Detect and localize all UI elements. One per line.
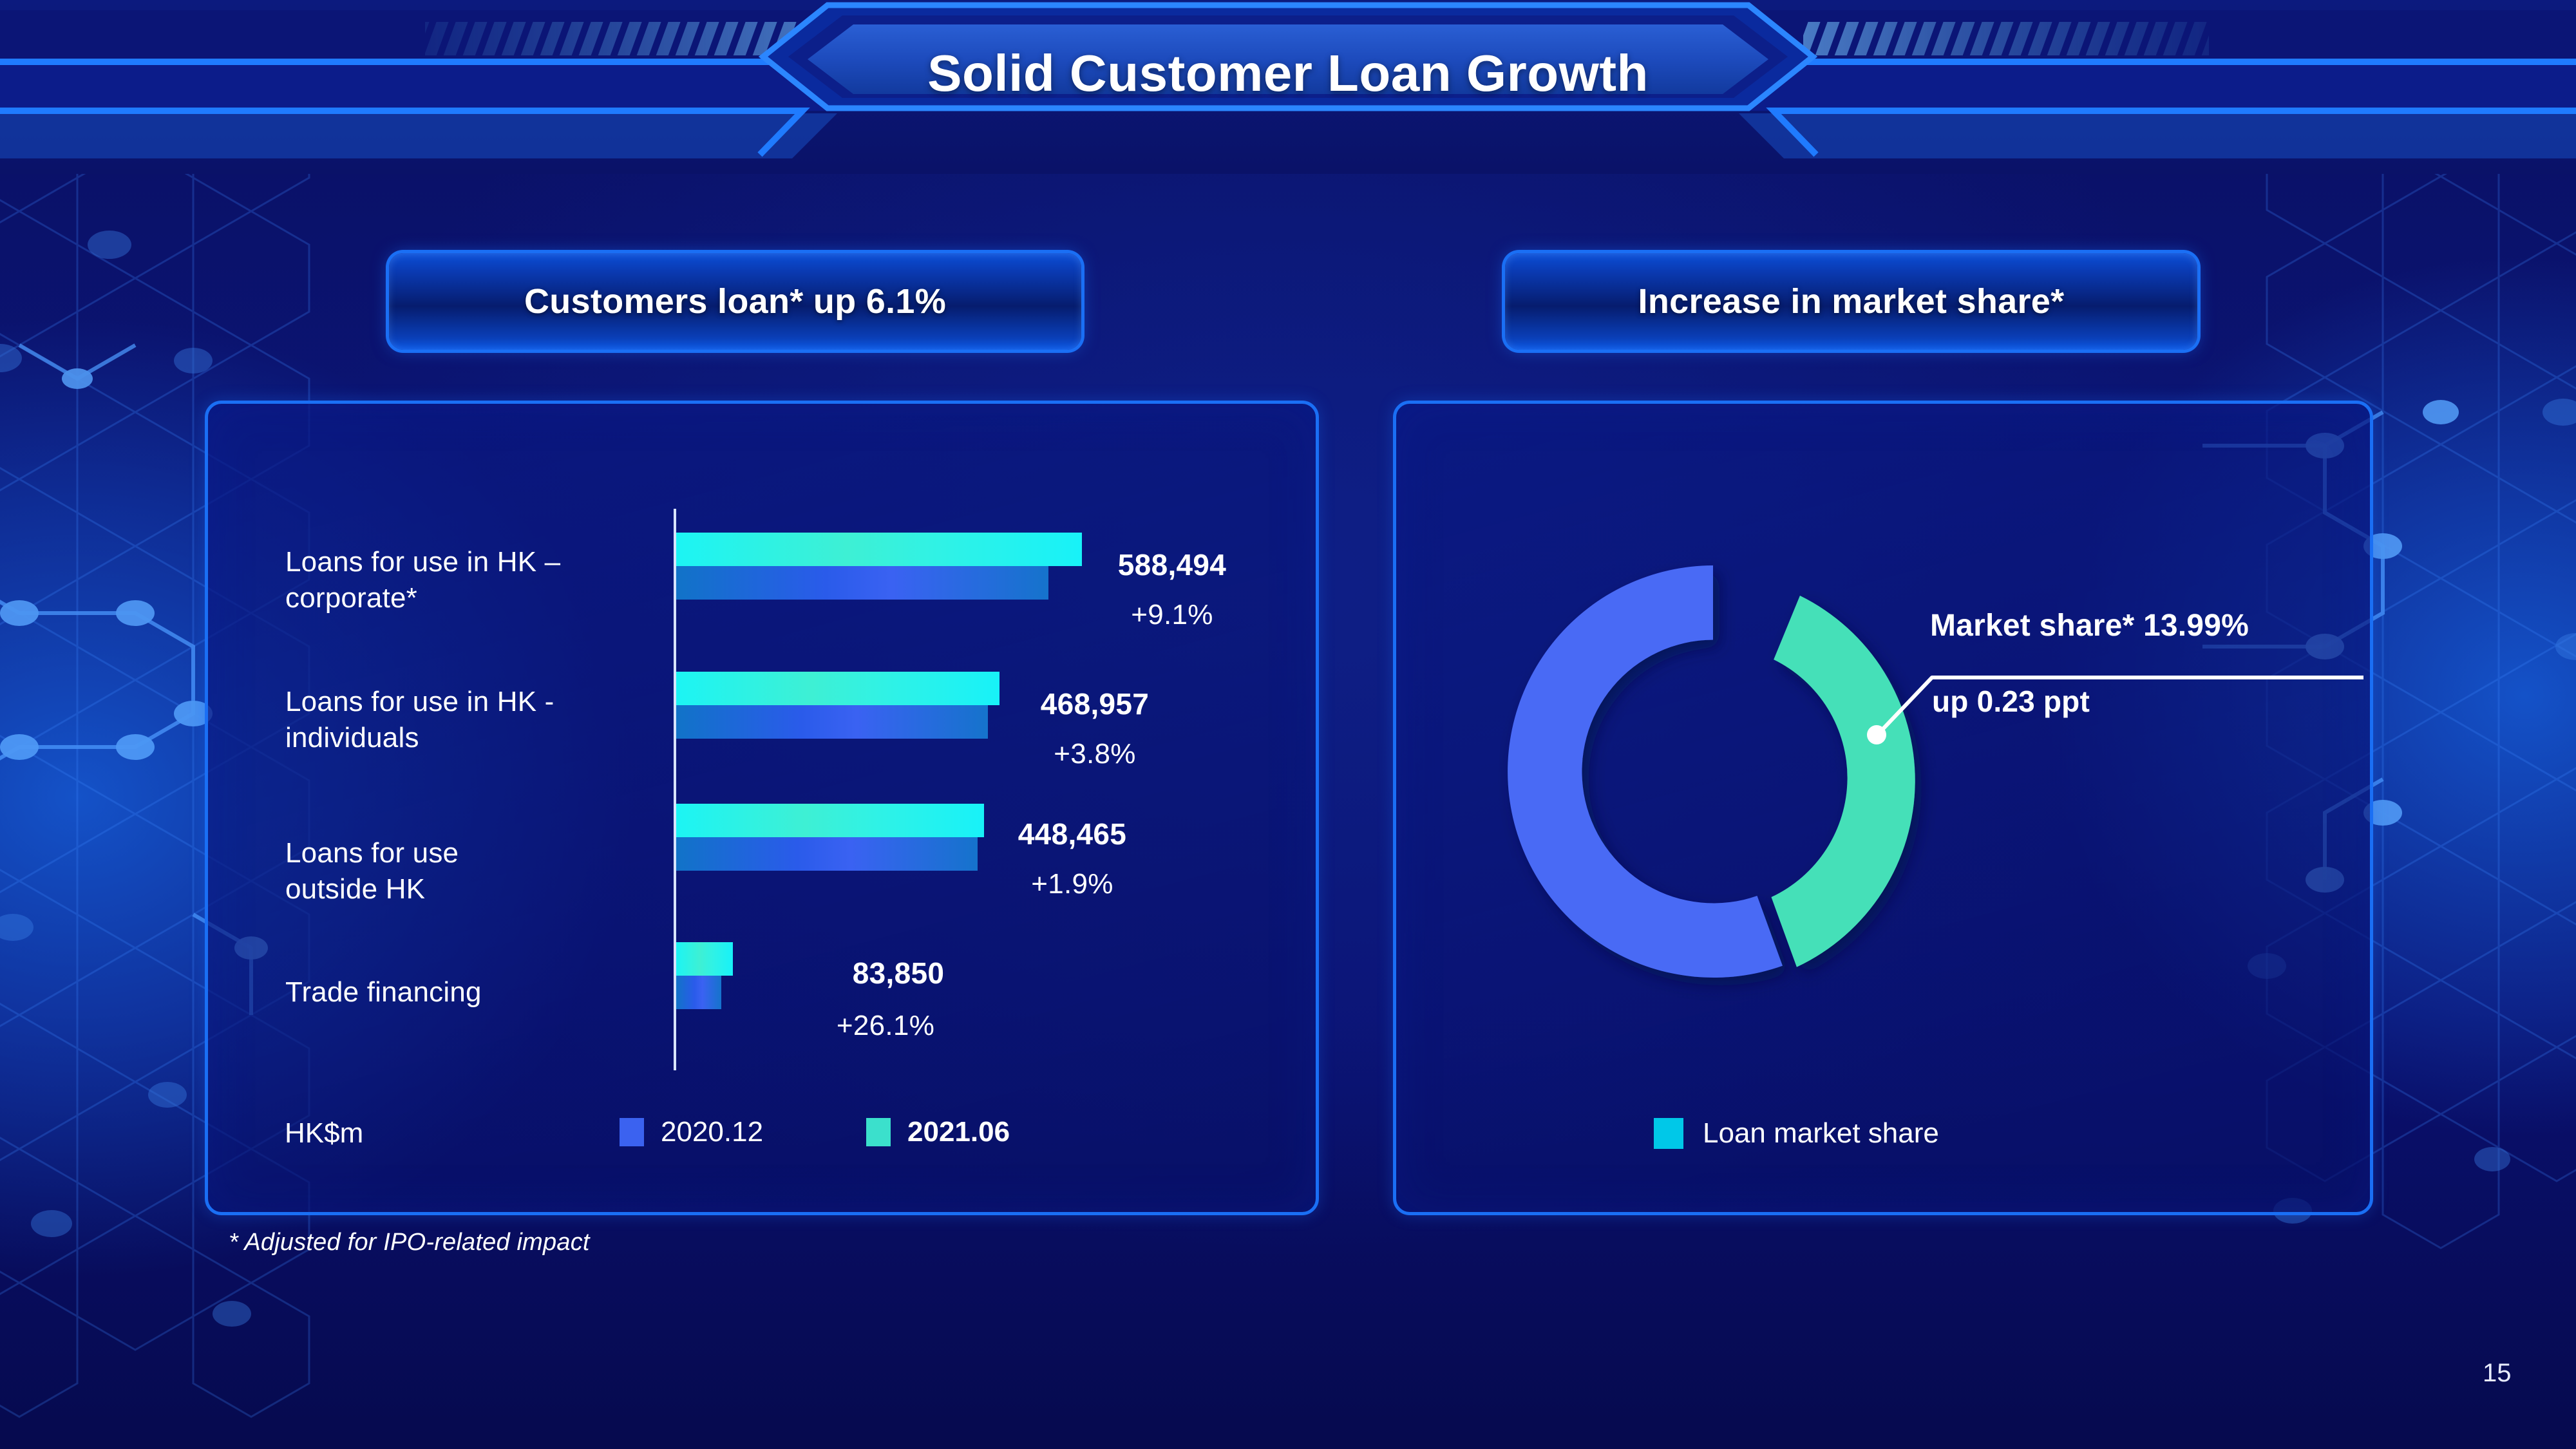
bar-category-label: Loans for use in HK – corporate* [285, 544, 672, 617]
bar-change-label: +26.1% [795, 1010, 976, 1042]
bar-2021-corporate [676, 533, 1082, 566]
bar-value-label: 468,957 [1005, 687, 1185, 721]
bar-2020-trade-financing [676, 976, 721, 1009]
donut-slice-other [1508, 565, 1783, 978]
bar-2021-trade-financing [676, 942, 733, 976]
bar-category-label: Loans for use outside HK [285, 835, 672, 908]
legend-swatch-2020-icon [620, 1118, 644, 1146]
section-header-market-share: Increase in market share* [1505, 253, 2197, 350]
section-header-left-label: Customers loan* up 6.1% [524, 281, 946, 321]
page-number: 15 [2483, 1359, 2512, 1388]
legend-swatch-2021-icon [866, 1118, 891, 1146]
legend-item-2021[interactable]: 2021.06 [866, 1116, 1010, 1148]
bar-category-label: Loans for use in HK - individuals [285, 684, 672, 757]
legend-label-2021: 2021.06 [907, 1116, 1010, 1148]
bar-2021-outside-hk [676, 804, 984, 837]
legend-swatch-loan-market-share-icon [1654, 1118, 1683, 1149]
bar-2020-corporate [676, 566, 1048, 600]
bar-2020-individuals [676, 705, 988, 739]
bar-value-label: 448,465 [982, 817, 1162, 851]
bar-value-label: 83,850 [808, 956, 989, 990]
bar-category-label: Trade financing [285, 974, 672, 1010]
bar-value-label: 588,494 [1082, 547, 1262, 582]
legend-label-loan-market-share: Loan market share [1703, 1117, 1939, 1150]
page-title: Solid Customer Loan Growth [831, 44, 1745, 103]
section-header-right-label: Increase in market share* [1638, 281, 2065, 321]
bar-change-label: +1.9% [982, 868, 1162, 900]
bar-chart-unit-label: HK$m [285, 1117, 363, 1150]
bar-change-label: +3.8% [1005, 738, 1185, 770]
footnote: * Adjusted for IPO-related impact [229, 1229, 590, 1256]
callout-market-share-change: up 0.23 ppt [1932, 684, 2090, 719]
bar-2020-outside-hk [676, 837, 978, 871]
bar-change-label: +9.1% [1082, 599, 1262, 631]
slide-background: Solid Customer Loan Growth Customers loa… [0, 0, 2576, 1449]
donut-slice-market-share [1771, 596, 1915, 967]
donut-chart [1481, 540, 1945, 1003]
legend-item-loan-market-share[interactable]: Loan market share [1654, 1117, 1939, 1150]
callout-market-share-value: Market share* 13.99% [1930, 608, 2249, 643]
legend-item-2020[interactable]: 2020.12 [620, 1116, 763, 1148]
legend-label-2020: 2020.12 [661, 1116, 763, 1148]
bar-2021-individuals [676, 672, 999, 705]
section-header-customers-loan: Customers loan* up 6.1% [389, 253, 1081, 350]
